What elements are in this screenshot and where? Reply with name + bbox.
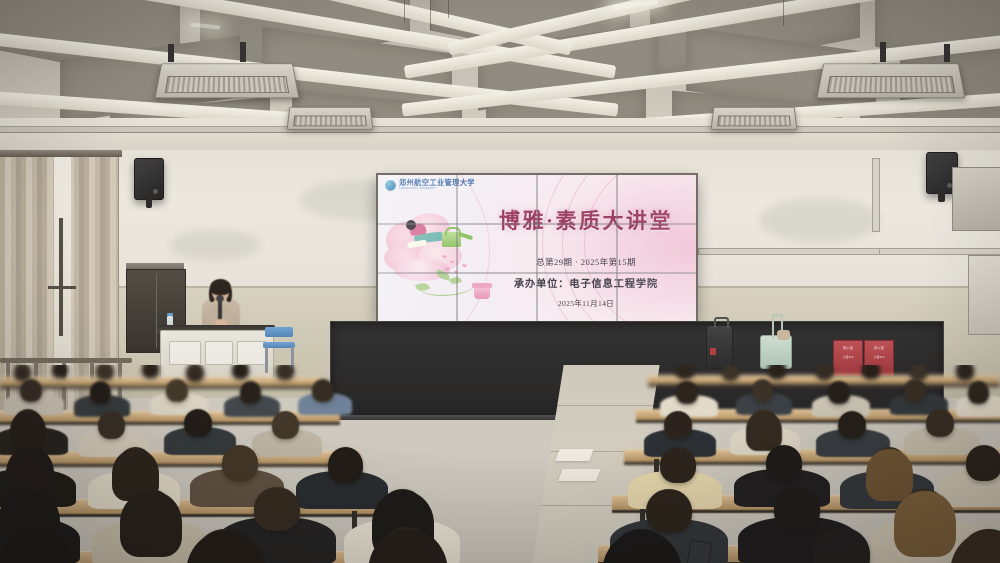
audience-head [90, 381, 111, 404]
conduit-pipe [874, 248, 1000, 255]
audience-head [676, 381, 698, 404]
ceiling-cassette-air-conditioner [154, 63, 299, 98]
window-frame-bar [59, 218, 63, 336]
audience-head [184, 409, 212, 437]
audience-head [20, 379, 42, 402]
window-latch [48, 286, 76, 289]
audience-head [774, 487, 820, 531]
fire-cabinet-label: 消火栓 [834, 345, 862, 350]
mobile-phone [686, 539, 713, 563]
audience-head [646, 489, 692, 533]
audience-hair [866, 449, 913, 501]
tiered-wooden-desk [0, 377, 320, 389]
handheld-microphone [218, 299, 222, 321]
audience-head [664, 411, 692, 439]
wall-mounted-loudspeaker [134, 158, 164, 200]
conduit-pipe [698, 248, 880, 255]
ceiling-cassette-air-conditioner [711, 107, 798, 130]
seated-student-audience [0, 365, 1000, 563]
university-logo: 郑州航空工业管理大学 ZHENGZHOU UNIVERSITY [385, 180, 475, 191]
audience-hair [894, 491, 956, 557]
audience-head [862, 365, 880, 379]
audience-head [966, 445, 1000, 481]
fire-cabinet-label: 消火栓 [865, 345, 893, 350]
audience-head [166, 379, 188, 402]
electrical-distribution-panel [952, 167, 1000, 231]
rolling-suitcase [706, 325, 733, 369]
fire-cabinet-sublabel: 火警119 [834, 355, 862, 359]
slide-organizer-line: 承办单位：电子信息工程学院 [481, 275, 691, 290]
audience-head [752, 379, 773, 402]
audience-head [926, 409, 954, 437]
audience-head [276, 365, 294, 380]
audience-head [828, 381, 850, 404]
audience-head [816, 365, 833, 380]
audience-head [328, 447, 363, 483]
electrical-distribution-panel [968, 255, 1000, 335]
audience-head [766, 445, 802, 481]
audience-head [676, 365, 694, 379]
audience-head [52, 365, 68, 378]
audience-head [722, 365, 739, 381]
audience-hair [746, 411, 782, 451]
audience-head [768, 365, 786, 379]
microphone-head-icon [216, 295, 224, 302]
audience-hair [120, 491, 182, 557]
audience-head [312, 379, 334, 402]
audience-head [98, 411, 125, 439]
slide-date-line: 2025年11月14日 [481, 298, 691, 309]
audience-head [660, 447, 696, 483]
audience-head [956, 365, 974, 380]
equipment-cart [760, 335, 792, 369]
audience-head [186, 365, 204, 382]
university-seal-icon [385, 180, 396, 191]
slide-title: 博雅·素质大讲堂 [486, 205, 686, 235]
lecture-hall-screenshot: 郑州航空工业管理大学 ZHENGZHOU UNIVERSITY [0, 0, 1000, 563]
handbag [777, 330, 790, 340]
university-name-english: ZHENGZHOU UNIVERSITY [399, 187, 475, 190]
conduit-pipe [872, 158, 880, 232]
audience-head [272, 411, 299, 439]
audience-head [240, 381, 261, 404]
audience-head [96, 365, 114, 380]
presentation-slide: 郑州航空工业管理大学 ZHENGZHOU UNIVERSITY [378, 175, 696, 321]
audience-head [142, 365, 159, 378]
audience-head [838, 411, 866, 439]
audience-head [904, 379, 926, 402]
slide-issue-line: 总第29期 · 2025年第15期 [481, 256, 691, 268]
paper-on-floor [555, 449, 593, 461]
fire-cabinet-sublabel: 火警119 [865, 355, 893, 359]
audience-head [232, 365, 249, 379]
audience-head [222, 445, 258, 481]
ceiling-cassette-air-conditioner [816, 63, 965, 98]
ceiling-cassette-air-conditioner [287, 107, 374, 130]
audience-head [968, 381, 989, 404]
curtain-rod [0, 150, 122, 157]
paper-on-floor [558, 469, 600, 481]
audience-head [254, 487, 300, 531]
presentation-video-wall[interactable]: 郑州航空工业管理大学 ZHENGZHOU UNIVERSITY [378, 175, 696, 321]
